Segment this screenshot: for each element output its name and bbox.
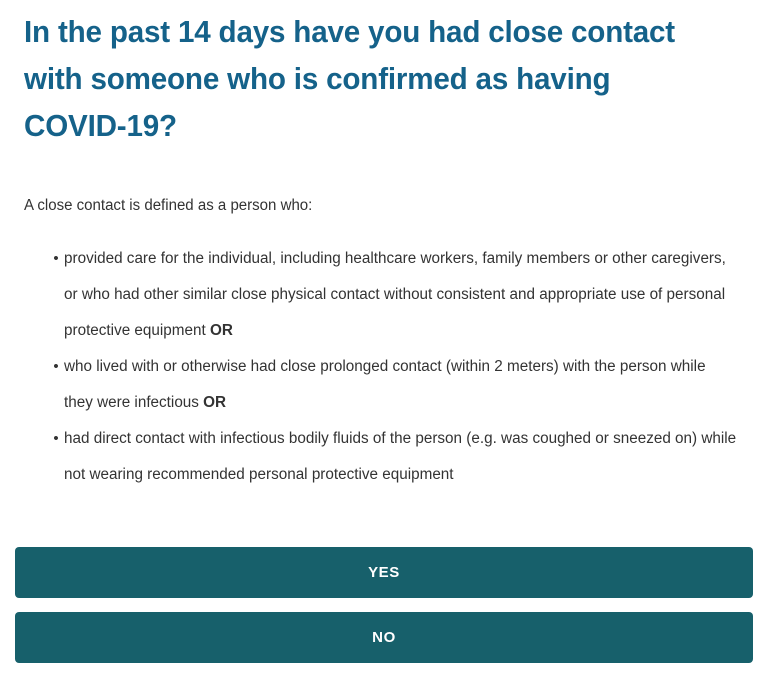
bullet-icon: • xyxy=(51,421,61,457)
list-item: • had direct contact with infectious bod… xyxy=(24,421,748,493)
list-item: • who lived with or otherwise had close … xyxy=(24,349,748,421)
no-button[interactable]: NO xyxy=(15,612,753,663)
answer-button-group: YES NO xyxy=(15,547,753,663)
screening-question-page: In the past 14 days have you had close c… xyxy=(0,0,768,679)
criteria-body-2: who lived with or otherwise had close pr… xyxy=(64,358,706,411)
page-title: In the past 14 days have you had close c… xyxy=(24,8,708,149)
criteria-body-1: provided care for the individual, includ… xyxy=(64,250,726,339)
criteria-text-2: who lived with or otherwise had close pr… xyxy=(64,349,738,421)
yes-button[interactable]: YES xyxy=(15,547,753,598)
list-item: • provided care for the individual, incl… xyxy=(24,241,748,349)
criteria-body-3: had direct contact with infectious bodil… xyxy=(64,430,736,483)
criteria-emphasis-1: OR xyxy=(210,322,233,339)
bullet-icon: • xyxy=(51,241,61,277)
criteria-text-1: provided care for the individual, includ… xyxy=(64,241,738,349)
criteria-text-3: had direct contact with infectious bodil… xyxy=(64,421,738,493)
close-contact-criteria-list: • provided care for the individual, incl… xyxy=(24,241,748,493)
close-contact-definition-intro: A close contact is defined as a person w… xyxy=(24,195,719,217)
bullet-icon: • xyxy=(51,349,61,385)
criteria-emphasis-2: OR xyxy=(203,394,226,411)
